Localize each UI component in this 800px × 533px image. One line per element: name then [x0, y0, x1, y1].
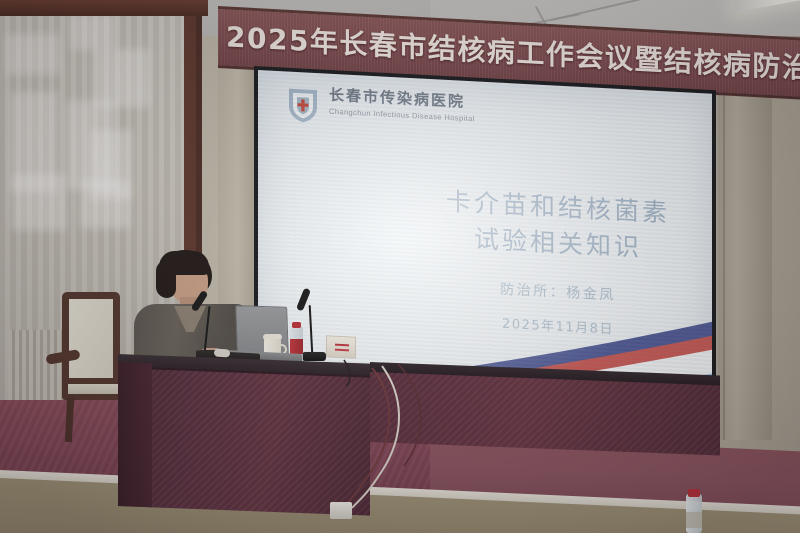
water-bottle-label [290, 339, 303, 354]
water-bottle-cap [292, 322, 301, 328]
microphone-right-base [302, 352, 326, 361]
hair-side [156, 260, 176, 298]
water-bottle-stage-label [686, 512, 702, 528]
desk-side [118, 362, 152, 507]
conference-hall-photo: 2025年长春市结核病工作会议暨结核病防治培训会议 长春市传染病医院 Chang… [0, 0, 800, 533]
podium-desk [118, 366, 370, 516]
hospital-logo: 长春市传染病医院 Changchun Infectious Disease Ho… [286, 85, 475, 133]
wall-column-right [718, 80, 772, 440]
shield-cross-icon [286, 85, 320, 125]
water-bottle-stage-cap [688, 489, 700, 497]
curtain-rod [0, 0, 208, 16]
name-card [326, 335, 356, 359]
ceiling-strip [551, 0, 640, 21]
mouse[interactable] [214, 349, 230, 358]
ceiling-light [734, 0, 800, 12]
power-brick [330, 502, 352, 519]
desk-wing [370, 372, 720, 455]
wooden-chair[interactable] [62, 292, 120, 388]
